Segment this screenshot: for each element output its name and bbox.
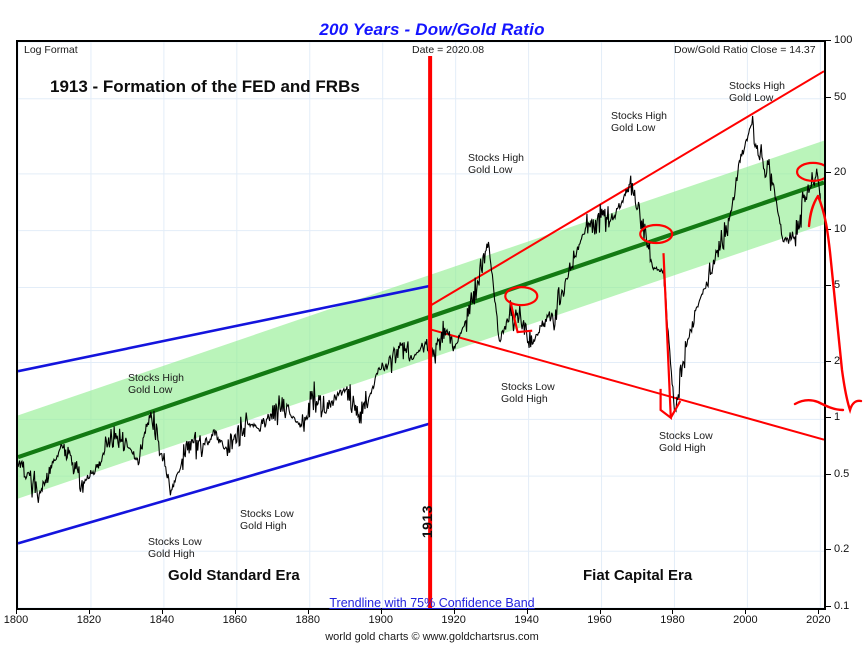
- y-tick-0.2: 0.2: [834, 543, 849, 555]
- annotation-line-2: Gold Low: [729, 92, 785, 104]
- x-tick-1940: 1940: [514, 614, 538, 626]
- date-note: Date = 2020.08: [412, 44, 484, 56]
- footer-credit: world gold charts © www.goldchartsrus.co…: [0, 631, 864, 643]
- log-format-note: Log Format: [24, 44, 78, 56]
- close-value-note: Dow/Gold Ratio Close = 14.37: [674, 44, 816, 56]
- annotation-line-1: Stocks High: [128, 372, 184, 384]
- y-tick-2: 2: [834, 355, 840, 367]
- x-tick-1880: 1880: [296, 614, 320, 626]
- y-tick-0.1: 0.1: [834, 600, 849, 612]
- y-tick-5: 5: [834, 279, 840, 291]
- stocks-high-gold-low-4: Stocks HighGold Low: [729, 80, 785, 104]
- stocks-low-gold-high-3: Stocks LowGold High: [501, 381, 555, 405]
- y-tickmark-0.2: [825, 549, 831, 550]
- y-tickmark-20: [825, 172, 831, 173]
- annotation-line-1: Stocks High: [611, 110, 667, 122]
- x-tick-1860: 1860: [223, 614, 247, 626]
- annotation-line-1: Stocks Low: [148, 536, 202, 548]
- y-tickmark-5: [825, 285, 831, 286]
- year-marker-1913-label: 1913: [419, 505, 435, 538]
- spike-marker-1980: [661, 253, 681, 418]
- annotation-line-2: Gold Low: [128, 384, 184, 396]
- annotation-line-2: Gold High: [148, 548, 202, 560]
- y-tick-20: 20: [834, 166, 846, 178]
- y-tick-100: 100: [834, 34, 852, 46]
- annotation-line-1: Stocks High: [468, 152, 524, 164]
- era-label-gold-standard: Gold Standard Era: [168, 567, 300, 584]
- fed-formation-heading: 1913 - Formation of the FED and FRBs: [50, 77, 360, 97]
- y-tickmark-100: [825, 40, 831, 41]
- x-tick-2020: 2020: [806, 614, 830, 626]
- center-trendline: [18, 183, 824, 458]
- annotation-line-2: Gold Low: [468, 164, 524, 176]
- annotation-line-2: Gold High: [501, 393, 555, 405]
- x-tick-1840: 1840: [150, 614, 174, 626]
- era-label-fiat-capital: Fiat Capital Era: [583, 567, 692, 584]
- annotation-line-1: Stocks High: [729, 80, 785, 92]
- y-tickmark-10: [825, 229, 831, 230]
- x-tick-1980: 1980: [660, 614, 684, 626]
- stocks-high-gold-low-3: Stocks HighGold Low: [611, 110, 667, 134]
- y-tick-50: 50: [834, 91, 846, 103]
- y-tickmark-0.1: [825, 606, 831, 607]
- annotation-line-1: Stocks Low: [240, 508, 294, 520]
- x-tick-1960: 1960: [587, 614, 611, 626]
- chart-page: 200 Years - Dow/Gold Ratio Log Format Da…: [0, 0, 864, 669]
- stocks-low-gold-high-4: Stocks LowGold High: [659, 430, 713, 454]
- stocks-low-gold-high-1: Stocks LowGold High: [148, 536, 202, 560]
- y-tickmark-50: [825, 97, 831, 98]
- red-channel-lower: [430, 329, 824, 439]
- trendline-caption: Trendline with 75% Confidence Band: [0, 596, 864, 610]
- y-tick-0.5: 0.5: [834, 468, 849, 480]
- annotation-line-1: Stocks Low: [501, 381, 555, 393]
- x-tickmark-2000: [745, 608, 746, 614]
- x-tickmark-1980: [672, 608, 673, 614]
- x-tickmark-1840: [162, 608, 163, 614]
- x-tickmark-1880: [308, 608, 309, 614]
- stocks-high-gold-low-2: Stocks HighGold Low: [468, 152, 524, 176]
- x-tickmark-1960: [600, 608, 601, 614]
- annotation-line-2: Gold High: [240, 520, 294, 532]
- x-tick-2000: 2000: [733, 614, 757, 626]
- stocks-high-gold-low-1: Stocks HighGold Low: [128, 372, 184, 396]
- x-tickmark-1800: [16, 608, 17, 614]
- x-tick-1900: 1900: [368, 614, 392, 626]
- x-tickmark-2020: [818, 608, 819, 614]
- x-tickmark-1940: [527, 608, 528, 614]
- annotation-line-2: Gold Low: [611, 122, 667, 134]
- x-tickmark-1820: [89, 608, 90, 614]
- x-tick-1920: 1920: [441, 614, 465, 626]
- x-tickmark-1900: [381, 608, 382, 614]
- x-tickmark-1860: [235, 608, 236, 614]
- y-tickmark-2: [825, 361, 831, 362]
- x-tick-1820: 1820: [77, 614, 101, 626]
- annotation-line-2: Gold High: [659, 442, 713, 454]
- stocks-low-gold-high-2: Stocks LowGold High: [240, 508, 294, 532]
- annotation-line-1: Stocks Low: [659, 430, 713, 442]
- page-title: 200 Years - Dow/Gold Ratio: [0, 20, 864, 40]
- y-tick-1: 1: [834, 411, 840, 423]
- x-tick-1800: 1800: [4, 614, 28, 626]
- y-tickmark-1: [825, 417, 831, 418]
- y-tickmark-0.5: [825, 474, 831, 475]
- y-tick-10: 10: [834, 223, 846, 235]
- x-tickmark-1920: [454, 608, 455, 614]
